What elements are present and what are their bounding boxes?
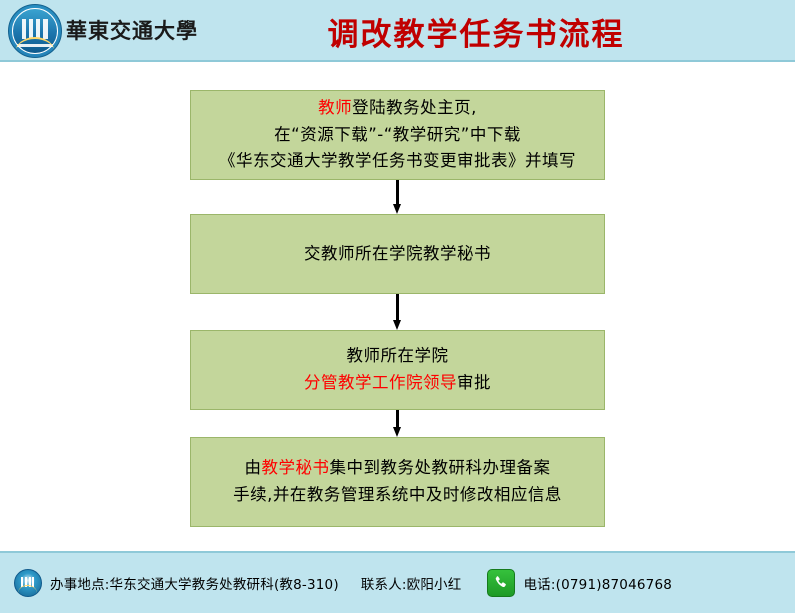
arrow-down-3 — [393, 410, 402, 437]
flow-chart: 教师登陆教务处主页, 在“资源下载”-“教学研究”中下载 《华东交通大学教学任务… — [0, 62, 795, 551]
footer-contact: 联系人:欧阳小红 — [361, 573, 462, 593]
flow-node-4: 由教学秘书集中到教务处教研科办理备案 手续,并在教务管理系统中及时修改相应信息 — [190, 437, 605, 527]
flow-node-4-text-b: 集中到教务处教研科办理备案 — [330, 458, 551, 477]
footer-band: 办事地点:华东交通大学教务处教研科(教8-310) 联系人:欧阳小红 电话:(0… — [0, 551, 795, 613]
university-emblem-icon — [8, 4, 62, 58]
flow-node-1-line-2: 在“资源下载”-“教学研究”中下载 — [274, 122, 521, 149]
flow-node-2-line-1: 交教师所在学院教学秘书 — [304, 241, 491, 268]
university-name: 華東交通大學 — [66, 19, 198, 42]
flow-node-4-highlight: 教学秘书 — [262, 458, 330, 477]
university-emblem-icon — [14, 569, 42, 597]
arrow-down-1 — [393, 180, 402, 214]
footer-address: 办事地点:华东交通大学教务处教研科(教8-310) — [50, 573, 339, 593]
arrow-down-2 — [393, 294, 402, 330]
flow-node-3-text: 审批 — [457, 373, 491, 392]
flow-node-4-line-2: 手续,并在教务管理系统中及时修改相应信息 — [233, 482, 562, 509]
flow-node-3-line-1: 教师所在学院 — [347, 343, 449, 370]
flow-node-4-text-a: 由 — [245, 458, 262, 477]
phone-icon — [487, 569, 515, 597]
flow-node-1-line-3: 《华东交通大学教学任务书变更审批表》并填写 — [219, 148, 576, 175]
flow-node-4-line-1: 由教学秘书集中到教务处教研科办理备案 — [245, 455, 551, 482]
university-logo: 華東交通大學 — [8, 3, 192, 58]
flow-node-1-text: 登陆教务处主页, — [352, 98, 477, 117]
footer-phone: 电话:(0791)87046768 — [523, 573, 672, 593]
flow-node-3-highlight: 分管教学工作院领导 — [304, 373, 457, 392]
flow-node-1: 教师登陆教务处主页, 在“资源下载”-“教学研究”中下载 《华东交通大学教学任务… — [190, 90, 605, 180]
flow-node-1-highlight: 教师 — [318, 98, 352, 117]
page-title: 调改教学任务书流程 — [196, 0, 756, 62]
slide-page: 華東交通大學 调改教学任务书流程 教师登陆教务处主页, 在“资源下载”-“教学研… — [0, 0, 795, 613]
flow-node-1-line-1: 教师登陆教务处主页, — [318, 95, 477, 122]
flow-node-3: 教师所在学院 分管教学工作院领导审批 — [190, 330, 605, 410]
header-band: 華東交通大學 调改教学任务书流程 — [0, 0, 795, 62]
flow-node-2: 交教师所在学院教学秘书 — [190, 214, 605, 294]
flow-node-3-line-2: 分管教学工作院领导审批 — [304, 370, 491, 397]
